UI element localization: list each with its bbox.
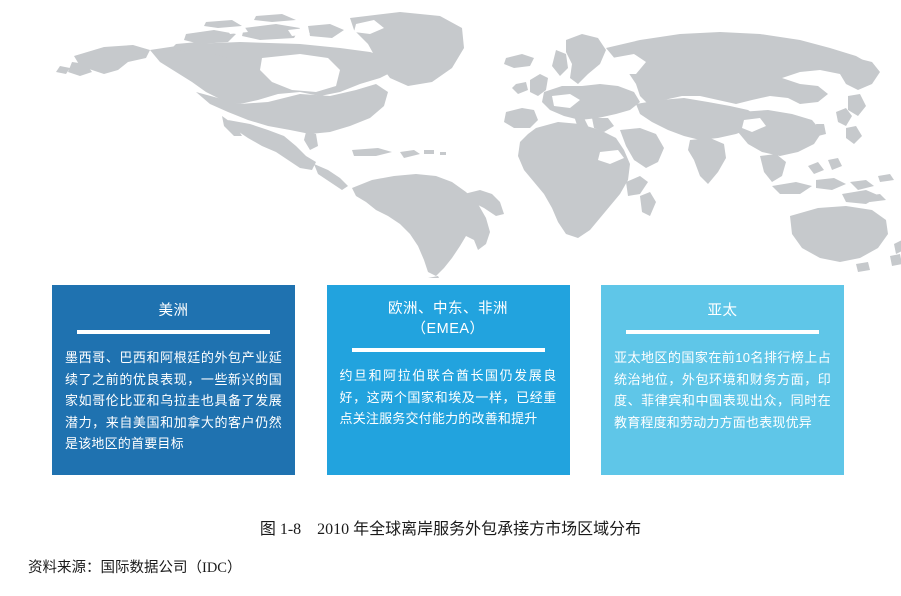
region-panel-body-apac: 亚太地区的国家在前10名排行榜上占统治地位，外包环境和财务方面，印度、菲律宾和中… bbox=[614, 347, 831, 433]
region-panel-americas[interactable]: 美洲 墨西哥、巴西和阿根廷的外包产业延续了之前的优良表现，一些新兴的国家如哥伦比… bbox=[52, 285, 295, 475]
region-panel-divider-emea bbox=[352, 348, 545, 352]
region-panel-body-americas: 墨西哥、巴西和阿根廷的外包产业延续了之前的优良表现，一些新兴的国家如哥伦比亚和乌… bbox=[65, 347, 282, 455]
world-map-figure bbox=[0, 0, 901, 278]
region-panel-apac[interactable]: 亚太 亚太地区的国家在前10名排行榜上占统治地位，外包环境和财务方面，印度、菲律… bbox=[601, 285, 844, 475]
region-panel-title-americas: 美洲 bbox=[65, 301, 282, 321]
region-panels-row: 美洲 墨西哥、巴西和阿根廷的外包产业延续了之前的优良表现，一些新兴的国家如哥伦比… bbox=[52, 285, 844, 475]
region-panel-title-apac: 亚太 bbox=[614, 301, 831, 321]
figure-caption: 图 1-8 2010 年全球离岸服务外包承接方市场区域分布 bbox=[0, 515, 901, 539]
figure-source-note: 资料来源：国际数据公司（IDC） bbox=[28, 556, 241, 577]
region-panel-divider-apac bbox=[626, 330, 819, 334]
region-panel-title-emea-abbrev: （EMEA） bbox=[340, 319, 557, 339]
region-panel-title-emea: 欧洲、中东、非洲 bbox=[340, 299, 557, 319]
region-panel-body-emea: 约旦和阿拉伯联合酋长国仍发展良好，这两个国家和埃及一样，已经重点关注服务交付能力… bbox=[340, 365, 557, 430]
region-panel-divider-americas bbox=[77, 330, 270, 334]
world-map-icon bbox=[0, 0, 901, 278]
region-panel-emea[interactable]: 欧洲、中东、非洲 （EMEA） 约旦和阿拉伯联合酋长国仍发展良好，这两个国家和埃… bbox=[327, 285, 570, 475]
